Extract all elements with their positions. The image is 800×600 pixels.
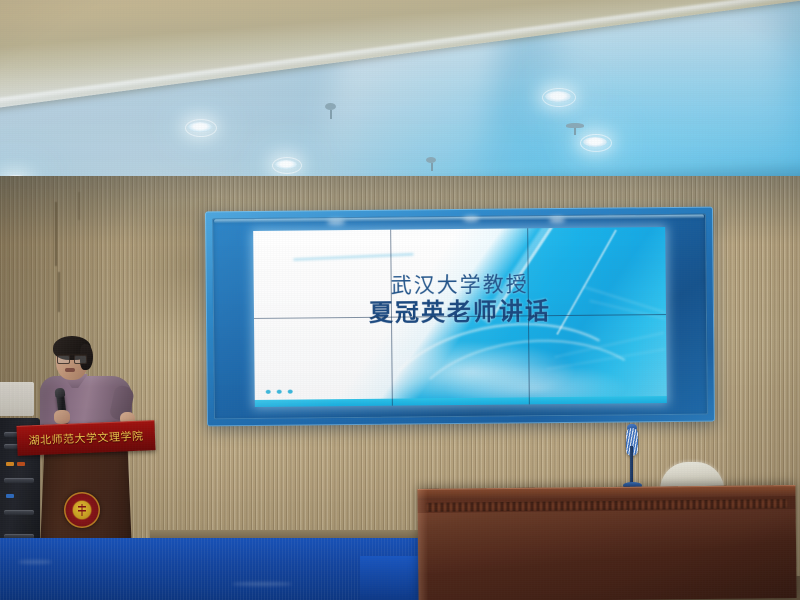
ceiling-downlight-rim	[580, 134, 612, 152]
wall-drip-mark	[55, 202, 57, 266]
wall-panel	[0, 382, 34, 416]
sprinkler-head-icon	[325, 103, 336, 110]
slide-dot	[266, 390, 271, 394]
lecture-hall-photo: 武汉大学教授 夏冠英老师讲话	[0, 0, 800, 600]
gooseneck-microphone	[625, 428, 639, 488]
ceiling-downlight-rim	[542, 88, 576, 107]
slide-dot	[288, 390, 293, 394]
university-seal-icon	[64, 492, 100, 528]
sprinkler-stem	[431, 163, 433, 171]
floor-carpet	[0, 538, 420, 600]
seal-character	[78, 504, 86, 516]
wall-drip-mark	[58, 272, 60, 312]
podium-banner: 湖北师范大学文理学院	[16, 420, 155, 456]
ceiling-downlight-rim	[272, 157, 302, 174]
glasses-icon	[57, 354, 87, 362]
slide-dot	[277, 390, 282, 394]
rack-indicator-led	[6, 462, 14, 466]
presiding-table	[417, 485, 796, 600]
rack-indicator-led	[6, 494, 14, 498]
carpet-highlight	[232, 582, 292, 586]
slide-title: 武汉大学教授 夏冠英老师讲话	[254, 271, 666, 328]
ceiling-downlight-rim	[185, 119, 217, 137]
slide-bullet-dots	[266, 390, 293, 394]
ceiling-speaker-stem	[574, 128, 576, 135]
carpet-texture	[0, 538, 420, 600]
wall-drip-mark	[78, 192, 80, 220]
sprinkler-stem	[330, 110, 332, 119]
podium-banner-text: 湖北师范大学文理学院	[28, 428, 144, 449]
speaker-mouth	[65, 368, 75, 372]
microphone-stem	[630, 446, 633, 486]
video-wall-display[interactable]: 武汉大学教授 夏冠英老师讲话	[253, 227, 667, 407]
table-left-highlight	[417, 489, 428, 600]
carpet-highlight	[18, 560, 52, 564]
video-wall-frame: 武汉大学教授 夏冠英老师讲话	[205, 207, 715, 427]
slide-title-line2: 夏冠英老师讲话	[254, 296, 666, 328]
table-highlight	[418, 509, 797, 573]
